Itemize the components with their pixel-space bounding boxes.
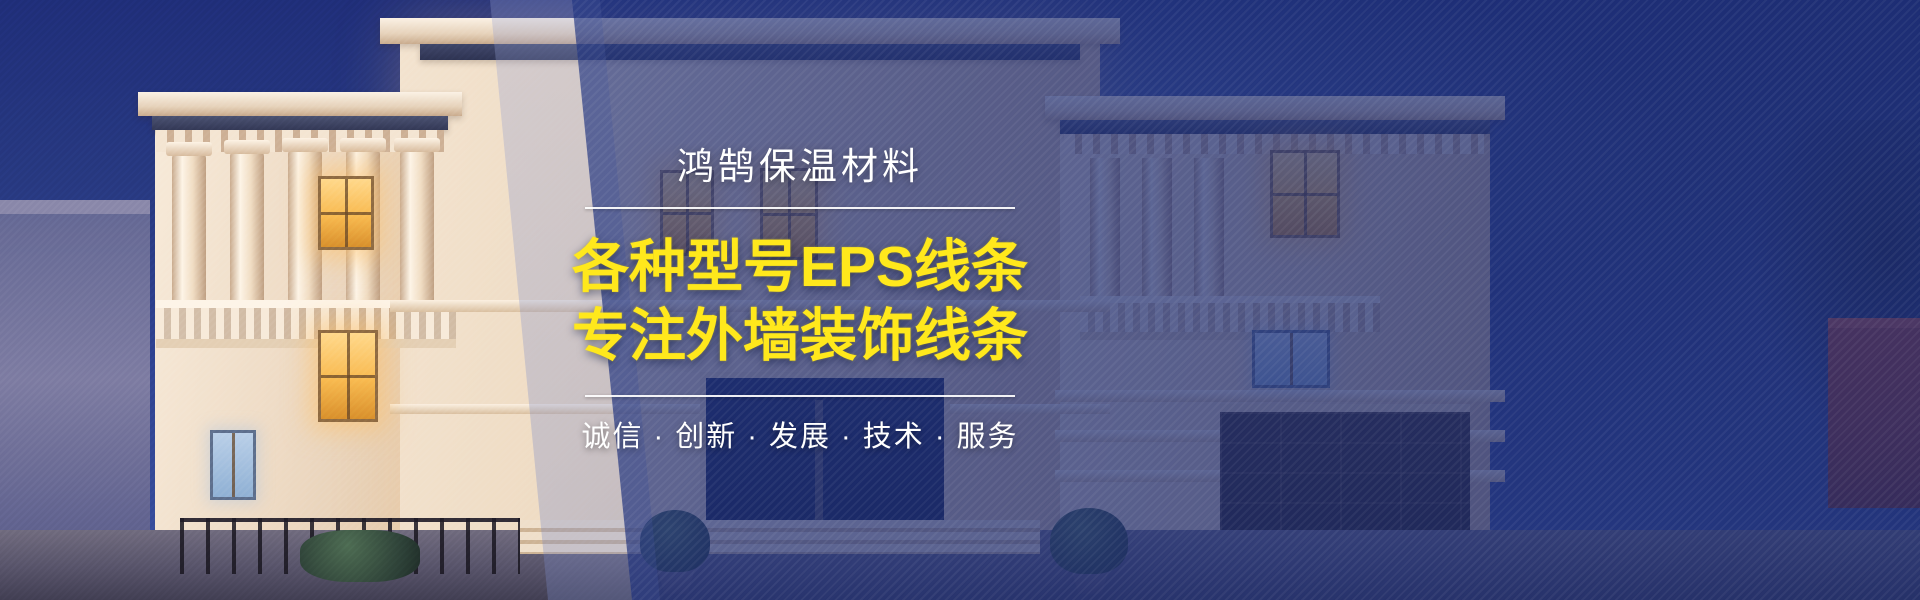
divider-top: [585, 207, 1015, 209]
brand-name: 鸿鹄保温材料: [677, 148, 923, 185]
headline-line-2: 专注外墙装饰线条: [572, 304, 1028, 369]
promo-banner: 鸿鹄保温材料 各种型号EPS线条 专注外墙装饰线条 诚信 · 创新 · 发展 ·…: [0, 0, 1920, 600]
tagline: 诚信 · 创新 · 发展 · 技术 · 服务: [581, 423, 1018, 452]
headline-line-1: 各种型号EPS线条: [572, 235, 1028, 300]
banner-text-block: 鸿鹄保温材料 各种型号EPS线条 专注外墙装饰线条 诚信 · 创新 · 发展 ·…: [540, 0, 1060, 600]
divider-bottom: [585, 395, 1015, 397]
